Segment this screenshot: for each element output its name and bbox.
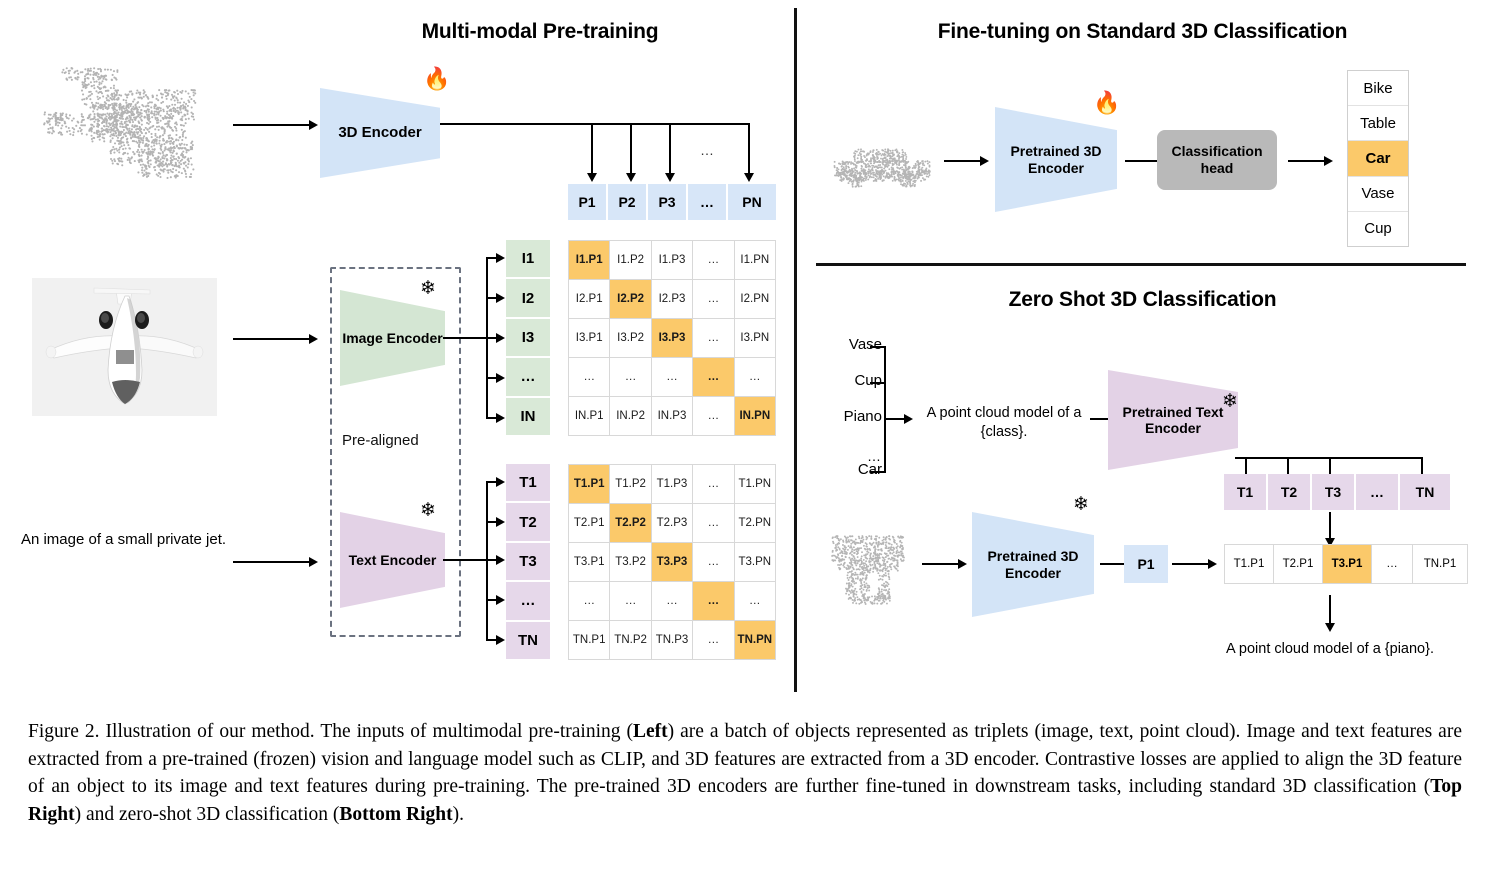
zeroshot-class-label: Cup (830, 372, 882, 389)
text-encoder-label: Text Encoder (349, 552, 437, 568)
text-feature-cell: … (506, 582, 550, 621)
text-feature-cell: T1 (506, 464, 550, 503)
rendered-image-airplane (32, 278, 217, 416)
class-list-item[interactable]: Bike (1348, 71, 1408, 106)
similarity-cell: I2.P1 (569, 280, 609, 318)
similarity-cell: IN.P2 (610, 397, 650, 435)
similarity-cell: I1.P2 (610, 241, 650, 279)
similarity-cell: … (693, 543, 733, 581)
point-cloud-airplane (20, 50, 235, 220)
zeroshot-score-row: T1.P1T2.P1T3.P1…TN.P1 (1224, 544, 1468, 584)
zeroshot-text-feature-cell: T3 (1312, 474, 1356, 510)
similarity-cell: I2.P3 (652, 280, 692, 318)
similarity-cell: T2.PN (735, 504, 775, 542)
prompt-template-text: A point cloud model of a {class}. (914, 404, 1094, 442)
arrow-p1-score-head (1208, 559, 1217, 569)
similarity-cell: … (652, 582, 692, 620)
similarity-cell: T3.P3 (652, 543, 692, 581)
p-feature-cell: P2 (608, 184, 648, 220)
bus-3d-drop-1-head (587, 173, 597, 182)
similarity-cell: … (693, 465, 733, 503)
similarity-cell: … (569, 582, 609, 620)
top-right-panel-title: Fine-tuning on Standard 3D Classificatio… (820, 20, 1465, 44)
arrow-classes-prompt-line (884, 418, 906, 420)
pretrained-3d-encoder-label-finetune: Pretrained 3D Encoder (995, 143, 1117, 175)
similarity-cell: TN.P1 (569, 621, 609, 659)
similarity-cell: … (610, 358, 650, 396)
arrow-car-head (980, 156, 989, 166)
pretrained-text-encoder-box[interactable]: Pretrained Text Encoder (1108, 370, 1238, 470)
bus-3d-drop-2-head (626, 173, 636, 182)
arrow-p1-score-line (1172, 563, 1210, 565)
arrow-image-head (309, 334, 318, 344)
similarity-cell: … (693, 319, 733, 357)
similarity-cell: I3.P1 (569, 319, 609, 357)
similarity-cell: T1.P2 (610, 465, 650, 503)
arrow-piano-head (958, 559, 967, 569)
zeroshot-text-feature-row: T1T2T3…TN (1224, 474, 1450, 510)
image-feature-cell: … (506, 358, 550, 397)
arrow-image-line (233, 338, 311, 340)
similarity-cell: … (735, 582, 775, 620)
classification-head-box[interactable]: Classification head (1157, 130, 1277, 190)
arrow-text-head (309, 557, 318, 567)
text-bus-b4-head (496, 595, 505, 605)
class-prediction-list[interactable]: BikeTableCarVaseCup (1347, 70, 1409, 247)
similarity-cell: TN.PN (735, 621, 775, 659)
arrow-text-line (233, 561, 311, 563)
point-cloud-piano (826, 522, 916, 607)
figure-caption: Figure 2. Illustration of our method. Th… (28, 718, 1462, 829)
similarity-cell: … (693, 582, 733, 620)
pretrained-text-encoder-label: Pretrained Text Encoder (1108, 404, 1238, 436)
pretrained-3d-encoder-label-zeroshot: Pretrained 3D Encoder (972, 548, 1094, 580)
similarity-cell: IN.P3 (652, 397, 692, 435)
arrow-head-list-head (1324, 156, 1333, 166)
image-encoder-label: Image Encoder (342, 330, 442, 346)
image-bus-b1-head (496, 253, 505, 263)
text-bus-b1-head (496, 477, 505, 487)
zeroshot-score-cell: T2.P1 (1274, 545, 1322, 583)
text-feature-cell: T2 (506, 503, 550, 542)
image-feature-cell: IN (506, 398, 550, 435)
similarity-cell: T2.P1 (569, 504, 609, 542)
text-bus-b5-head (496, 635, 505, 645)
p-feature-row: P1P2P3…PN (568, 184, 776, 220)
similarity-cell: T3.PN (735, 543, 775, 581)
snowflake-icon-text: ❄ (420, 501, 436, 520)
zeroshot-text-feature-cell: T1 (1224, 474, 1268, 510)
similarity-cell: IN.P1 (569, 397, 609, 435)
class-list-item[interactable]: Table (1348, 106, 1408, 141)
caption-prefix: Figure 2. (28, 721, 100, 742)
text-similarity-matrix: T1.P1T1.P2T1.P3…T1.PNT2.P1T2.P2T2.P3…T2.… (568, 464, 776, 660)
similarity-cell: … (693, 241, 733, 279)
zeroshot-score-cell: T1.P1 (1225, 545, 1273, 583)
similarity-cell: I2.PN (735, 280, 775, 318)
similarity-cell: TN.P3 (652, 621, 692, 659)
image-feature-cell: I1 (506, 240, 550, 279)
similarity-cell: … (569, 358, 609, 396)
similarity-cell: T1.P1 (569, 465, 609, 503)
similarity-cell: I3.P3 (652, 319, 692, 357)
class-list-item[interactable]: Vase (1348, 177, 1408, 212)
pretrained-3d-encoder-box-zeroshot[interactable]: Pretrained 3D Encoder (972, 512, 1094, 617)
similarity-cell: … (693, 280, 733, 318)
image-bus-b5-head (496, 413, 505, 423)
similarity-cell: I2.P2 (610, 280, 650, 318)
text-feature-cell: TN (506, 622, 550, 659)
bus-3d-ellipsis: … (700, 142, 715, 158)
arrow-score-result-head (1325, 623, 1335, 632)
image-feature-cell: I2 (506, 279, 550, 318)
similarity-cell: … (735, 358, 775, 396)
class-list-item[interactable]: Car (1348, 141, 1408, 176)
image-bus-stem (443, 337, 488, 339)
class-bracket-t1 (870, 346, 886, 348)
text-feature-cell: T3 (506, 543, 550, 582)
similarity-cell: T3.P2 (610, 543, 650, 581)
text-bus-spine (486, 481, 488, 641)
similarity-cell: T1.PN (735, 465, 775, 503)
bus-3d-drop-1 (591, 123, 593, 177)
zeroshot-result-text: A point cloud model of a {piano}. (1180, 640, 1480, 659)
prealigned-label: Pre-aligned (342, 432, 419, 449)
image-bus-b3-head (496, 333, 505, 343)
zeroshot-text-feature-cell: T2 (1268, 474, 1312, 510)
similarity-cell: … (693, 504, 733, 542)
encoder-3d-box[interactable]: 3D Encoder (320, 88, 440, 178)
bus-3d-drop-n (748, 123, 750, 177)
text-feature-column: T1T2T3…TN (506, 464, 550, 659)
similarity-cell: I1.P3 (652, 241, 692, 279)
arrow-car-line (944, 160, 982, 162)
similarity-cell: … (693, 358, 733, 396)
zeroshot-class-label: Car (830, 461, 882, 478)
class-bracket-t3 (870, 471, 886, 473)
fire-icon: 🔥 (423, 68, 450, 90)
horizontal-separator (816, 263, 1466, 266)
image-feature-column: I1I2I3…IN (506, 240, 550, 435)
arrow-head-list-line (1288, 160, 1326, 162)
figure-root: Multi-modal Pre-training (0, 0, 1490, 888)
arrow-pointcloud-line (233, 124, 311, 126)
similarity-cell: IN.PN (735, 397, 775, 435)
zeroshot-score-cell: TN.P1 (1413, 545, 1467, 583)
image-feature-cell: I3 (506, 319, 550, 358)
text-bus-b2-head (496, 517, 505, 527)
p-feature-cell: PN (728, 184, 776, 220)
zeroshot-class-label: Vase (830, 336, 882, 353)
bus-3d-horizontal (440, 123, 750, 125)
p-feature-cell: … (688, 184, 728, 220)
caption-body: Illustration of our method. The inputs o… (28, 721, 1462, 825)
zeroshot-score-cell: T3.P1 (1323, 545, 1371, 583)
zeroshot-class-label: Piano (830, 408, 882, 425)
arrow-classes-prompt-head (904, 414, 913, 424)
bus-3d-drop-n-head (744, 173, 754, 182)
image-bus-b4-head (496, 373, 505, 383)
arrow-pointcloud-head (309, 120, 318, 130)
bottom-right-panel-title: Zero Shot 3D Classification (820, 288, 1465, 312)
encoder-3d-label: 3D Encoder (338, 124, 421, 141)
zeroshot-text-feature-cell: … (1356, 474, 1400, 510)
pretrained-3d-encoder-box-finetune[interactable]: Pretrained 3D Encoder (995, 107, 1117, 212)
similarity-cell: … (610, 582, 650, 620)
left-panel-title: Multi-modal Pre-training (290, 20, 790, 44)
point-cloud-car (828, 135, 938, 195)
fire-icon-finetune: 🔥 (1093, 92, 1120, 114)
snowflake-icon-text-zs: ❄ (1222, 392, 1238, 411)
similarity-cell: … (693, 397, 733, 435)
p-feature-cell: P3 (648, 184, 688, 220)
class-bracket-spine (884, 346, 886, 472)
similarity-cell: T2.P3 (652, 504, 692, 542)
bus-3d-drop-3-head (665, 173, 675, 182)
classification-head-label: Classification head (1157, 143, 1277, 177)
similarity-cell: T2.P2 (610, 504, 650, 542)
bus-3d-drop-2 (630, 123, 632, 177)
similarity-cell: I1.PN (735, 241, 775, 279)
image-bus-b2-head (496, 293, 505, 303)
class-list-item[interactable]: Cup (1348, 212, 1408, 246)
similarity-cell: I3.P2 (610, 319, 650, 357)
text-bus-b3-head (496, 555, 505, 565)
zeroshot-text-feature-cell: TN (1400, 474, 1450, 510)
p-feature-cell: P1 (568, 184, 608, 220)
snowflake-icon-3d-zs: ❄ (1073, 495, 1089, 514)
similarity-cell: … (693, 621, 733, 659)
class-bracket-t2 (870, 382, 886, 384)
p1-feature-box: P1 (1124, 545, 1168, 583)
zeroshot-score-cell: … (1372, 545, 1412, 583)
similarity-cell: I3.PN (735, 319, 775, 357)
similarity-cell: I1.P1 (569, 241, 609, 279)
vertical-separator (794, 8, 797, 692)
arrow-piano-line (922, 563, 960, 565)
similarity-cell: TN.P2 (610, 621, 650, 659)
bus-3d-drop-3 (669, 123, 671, 177)
similarity-cell: T3.P1 (569, 543, 609, 581)
text-bus-stem (443, 559, 488, 561)
text-input-caption: An image of a small private jet. (16, 530, 231, 550)
snowflake-icon-image: ❄ (420, 279, 436, 298)
similarity-cell: … (652, 358, 692, 396)
image-similarity-matrix: I1.P1I1.P2I1.P3…I1.PNI2.P1I2.P2I2.P3…I2.… (568, 240, 776, 436)
similarity-cell: T1.P3 (652, 465, 692, 503)
